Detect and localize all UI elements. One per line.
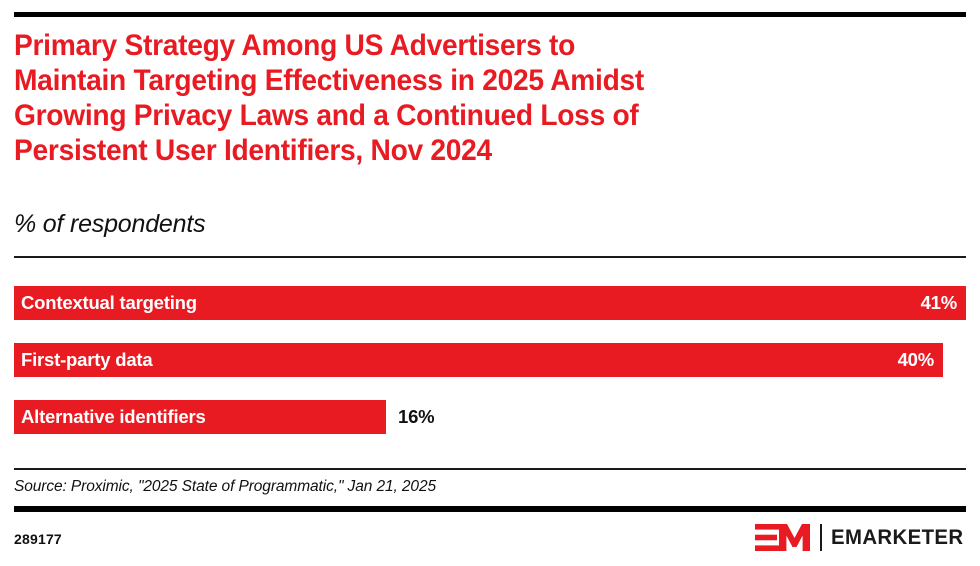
bar-label: Alternative identifiers [14,406,206,428]
bar-label: First-party data [14,349,152,371]
bar-row: First-party data40% [14,343,966,377]
logo-divider [820,524,822,551]
bar-1[interactable]: Contextual targeting41% [14,286,966,320]
bar-value: 40% [898,349,943,371]
bar-value: 16% [398,400,434,434]
chart-subtitle: % of respondents [14,209,205,239]
bar-row: Alternative identifiers16% [14,400,966,434]
em-logo-icon [755,524,811,551]
bar-label: Contextual targeting [14,292,197,314]
logo-wordmark: EMARKETER [831,527,964,548]
page-title: Primary Strategy Among US Advertisers to… [14,28,912,168]
bar-value: 41% [921,292,966,314]
source-note: Source: Proximic, "2025 State of Program… [14,478,436,496]
top-divider [14,12,966,17]
chart-id: 289177 [14,531,62,547]
title-divider [14,256,966,258]
chart-page: Primary Strategy Among US Advertisers to… [0,0,980,566]
bar-row: Contextual targeting41% [14,286,966,320]
bar-3[interactable]: Alternative identifiers [14,400,386,434]
source-divider [14,468,966,470]
bar-2[interactable]: First-party data40% [14,343,943,377]
emarketer-logo[interactable]: EMARKETER [755,521,968,553]
footer-divider [14,506,966,512]
